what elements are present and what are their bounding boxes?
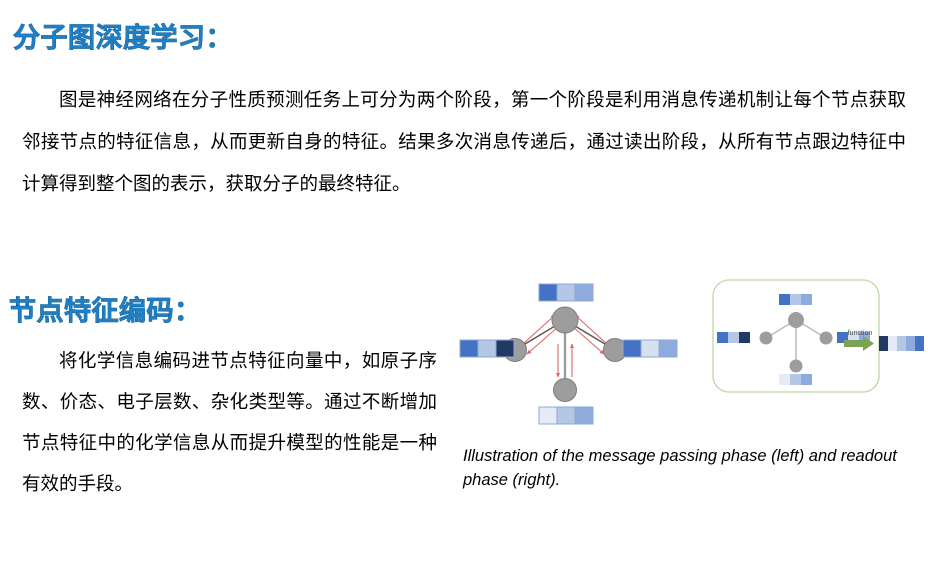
readout-node-right <box>820 332 833 345</box>
feature-vector-left <box>460 340 514 357</box>
feature-vector-right <box>623 340 677 357</box>
readout-feature-vector-left <box>717 332 750 343</box>
message-passing-diagram <box>460 284 677 424</box>
readout-node-center <box>788 312 804 328</box>
function-arrow-label: function <box>848 330 873 337</box>
readout-feature-vector-bottom <box>779 374 812 385</box>
section-heading-molecular-graph-deep-learning: 分子图深度学习： <box>13 16 233 55</box>
readout-feature-vector-center <box>779 294 812 305</box>
node-bottom <box>554 379 577 402</box>
readout-node-left <box>760 332 773 345</box>
section-heading-node-feature-encoding: 节点特征编码： <box>9 289 202 328</box>
section-paragraph-node-feature-encoding: 将化学信息编码进节点特征向量中，如原子序数、价态、电子层数、杂化类型等。通过不断… <box>22 340 437 504</box>
figure-diagram-svg: function <box>455 272 925 442</box>
readout-node-bottom <box>790 360 803 373</box>
section-paragraph-molecular-graph-deep-learning: 图是神经网络在分子性质预测任务上可分为两个阶段，第一个阶段是利用消息传递机制让每… <box>22 79 906 205</box>
figure-caption: Illustration of the message passing phas… <box>463 444 923 492</box>
node-center <box>552 307 578 333</box>
readout-output-vector <box>879 336 924 351</box>
feature-vector-bottom <box>539 407 593 424</box>
figure-message-passing-readout: function Illustration of the message pas… <box>455 272 925 502</box>
feature-vector-center <box>539 284 593 301</box>
